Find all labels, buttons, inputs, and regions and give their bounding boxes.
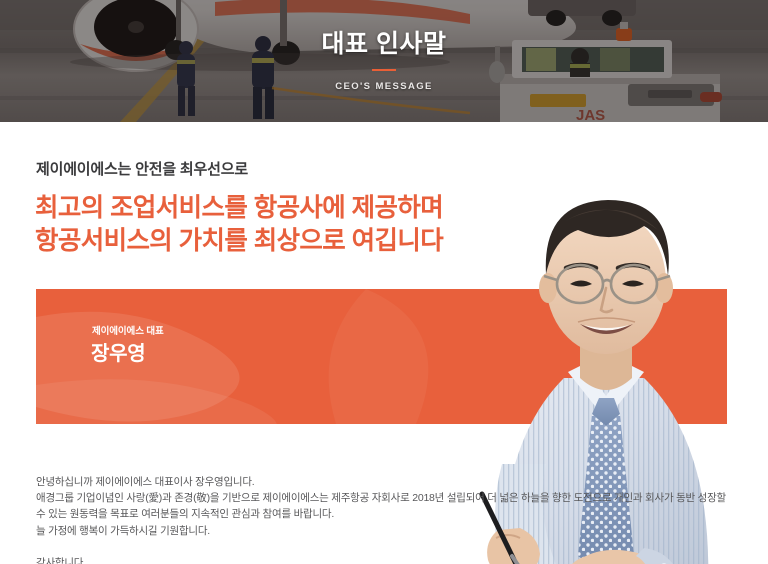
content-area: 제이에이에스는 안전을 최우선으로 최고의 조업서비스를 항공사에 제공하며 항… bbox=[0, 122, 768, 564]
hero-text-block: 대표 인사말 CEO'S MESSAGE bbox=[0, 0, 768, 122]
ceo-message-body: 안녕하십니까 제이에이에스 대표이사 장우영입니다. 애경그룹 기업이념인 사랑… bbox=[36, 474, 742, 564]
page-title: 대표 인사말 bbox=[322, 30, 447, 59]
intro-eyebrow: 제이에이에스는 안전을 최우선으로 bbox=[36, 158, 248, 179]
ceo-name-band: 제이에이에스 대표 장우영 bbox=[36, 289, 727, 424]
intro-headline-line-2: 항공서비스의 가치를 최상으로 여깁니다 bbox=[35, 225, 443, 258]
ceo-message-page: JAS 대표 인사말 CEO'S MESSAGE 제이에이에스는 안전을 최우선… bbox=[0, 0, 768, 564]
message-line-5: 감사합니다. bbox=[36, 555, 742, 564]
message-line-4: 늘 가정에 행복이 가득하시길 기원합니다. bbox=[36, 523, 742, 539]
ceo-name: 장우영 bbox=[91, 337, 145, 366]
intro-headline-line-1: 최고의 조업서비스를 항공사에 제공하며 bbox=[35, 192, 443, 225]
paragraph-gap bbox=[36, 539, 742, 555]
message-line-2: 애경그룹 기업이념인 사랑(愛)과 존경(敬)을 기반으로 제이에이에스는 제주… bbox=[36, 490, 742, 506]
message-line-3: 수 있는 원동력을 목표로 여러분들의 지속적인 관심과 참여를 바랍니다. bbox=[36, 506, 742, 522]
intro-headline: 최고의 조업서비스를 항공사에 제공하며 항공서비스의 가치를 최상으로 여깁니… bbox=[35, 192, 443, 257]
page-subtitle: CEO'S MESSAGE bbox=[335, 81, 433, 92]
title-divider bbox=[372, 69, 396, 71]
ceo-role-label: 제이에이에스 대표 bbox=[92, 323, 164, 337]
message-line-1: 안녕하십니까 제이에이에스 대표이사 장우영입니다. bbox=[36, 474, 742, 490]
hero-banner: JAS 대표 인사말 CEO'S MESSAGE bbox=[0, 0, 768, 122]
